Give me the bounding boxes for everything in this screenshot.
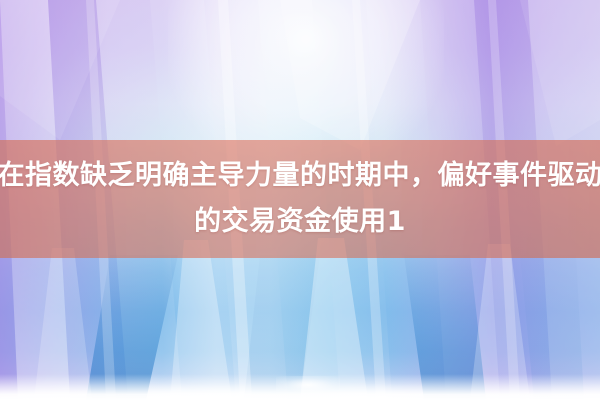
banner-image: 在指数缺乏明确主导力量的时期中，偏好事件驱动 的交易资金使用1 (0, 0, 600, 400)
headline-line-1: 在指数缺乏明确主导力量的时期中，偏好事件驱动 (0, 154, 600, 198)
headline-line-2: 的交易资金使用1 (194, 200, 406, 244)
headline-text-block: 在指数缺乏明确主导力量的时期中，偏好事件驱动 的交易资金使用1 (0, 140, 600, 258)
bottom-white-fade (0, 374, 600, 400)
